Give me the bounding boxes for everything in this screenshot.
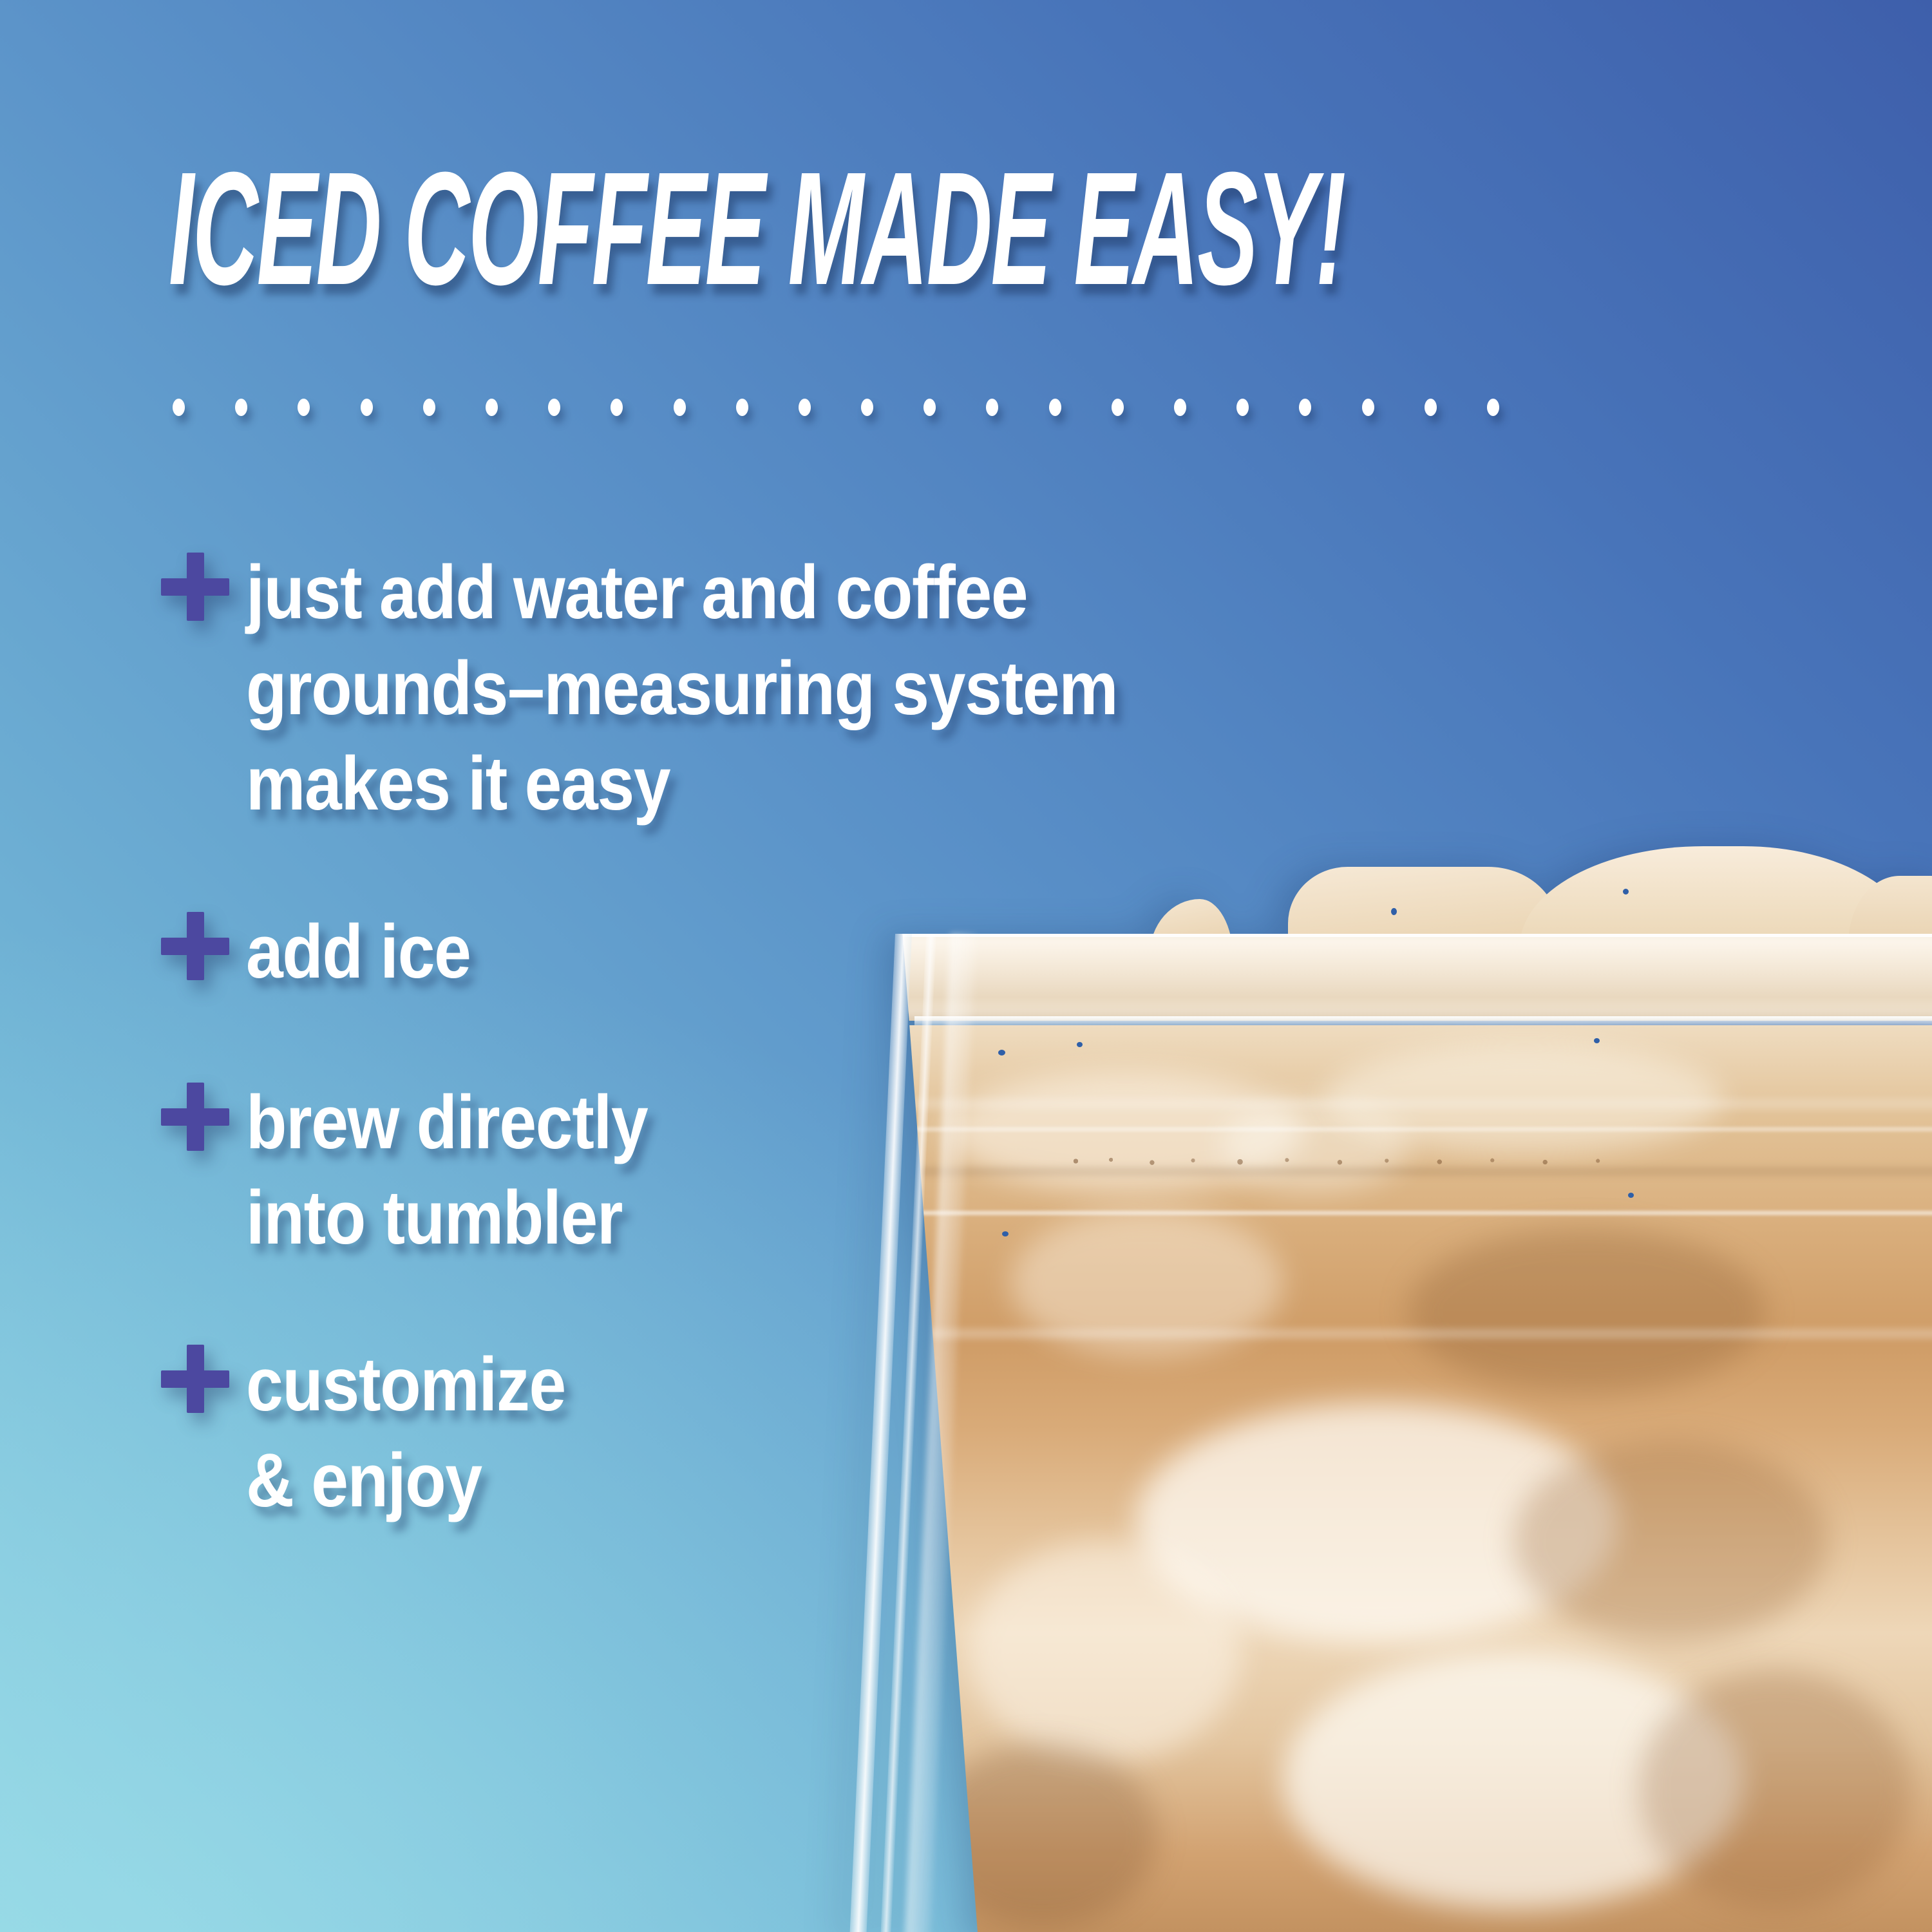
list-item-label: just add water and coffee grounds–measur…	[246, 545, 1117, 832]
list-item: customize & enjoy	[161, 1337, 1488, 1528]
divider-dot	[548, 399, 560, 416]
coffee-swirl	[1513, 1440, 1828, 1643]
coffee-swirl	[927, 1743, 1157, 1927]
dust-speck	[1628, 1193, 1634, 1198]
promo-poster: ICED COFFEE MADE EASY! just add water an…	[0, 0, 1932, 1932]
divider-dot	[986, 399, 998, 416]
divider-dot	[674, 399, 686, 416]
divider-dot	[1112, 399, 1124, 416]
list-item-label: add ice	[246, 904, 471, 1000]
list-item: just add water and coffee grounds–measur…	[161, 545, 1488, 832]
coffee-swirl	[1639, 1670, 1911, 1909]
divider-dot	[173, 399, 185, 416]
page-title: ICED COFFEE MADE EASY!	[169, 149, 1006, 307]
divider-dot	[1236, 399, 1249, 416]
divider-dot	[923, 399, 936, 416]
divider-dot	[423, 399, 435, 416]
dotted-divider	[173, 394, 1499, 420]
plus-icon	[161, 553, 229, 621]
milk-swirl	[969, 1541, 1241, 1762]
divider-dot	[486, 399, 498, 416]
divider-dot	[298, 399, 310, 416]
divider-dot	[1174, 399, 1186, 416]
divider-dot	[1049, 399, 1061, 416]
divider-dot	[361, 399, 373, 416]
plus-icon	[161, 912, 229, 980]
divider-dot	[736, 399, 748, 416]
list-item-label: customize & enjoy	[246, 1337, 565, 1528]
divider-dot	[861, 399, 873, 416]
divider-dot	[1299, 399, 1311, 416]
divider-dot	[1487, 399, 1499, 416]
divider-dot	[1362, 399, 1374, 416]
divider-dot	[611, 399, 623, 416]
divider-dot	[799, 399, 811, 416]
list-item-label: brew directly into tumbler	[246, 1075, 647, 1266]
list-item: add ice	[161, 904, 1488, 1000]
list-item: brew directly into tumbler	[161, 1075, 1488, 1266]
feature-list: just add water and coffee grounds–measur…	[161, 545, 1488, 1528]
divider-dot	[1425, 399, 1437, 416]
dust-speck	[1623, 889, 1629, 895]
plus-icon	[161, 1083, 229, 1151]
plus-icon	[161, 1345, 229, 1413]
divider-dot	[235, 399, 247, 416]
dust-speck	[1594, 1038, 1600, 1043]
